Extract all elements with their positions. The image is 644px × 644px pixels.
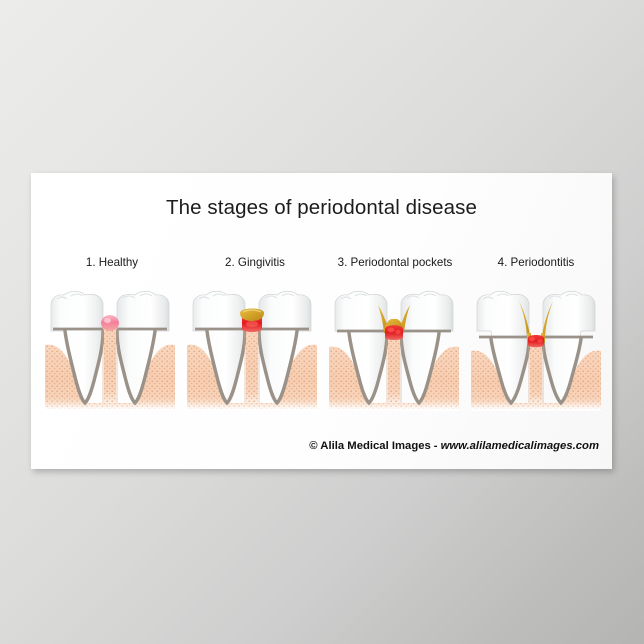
copyright-text: © Alila Medical Images: [309, 440, 431, 452]
credit-url: www.alilamedicalimages.com: [441, 440, 599, 452]
poster-scene: The stages of periodontal disease 1. Hea…: [0, 0, 644, 644]
credit-line: © Alila Medical Images-www.alilamedicali…: [309, 440, 599, 452]
stage-label-periodontal-pockets: 3. Periodontal pockets: [321, 256, 469, 269]
illustration-periodontal-pockets: [325, 285, 463, 417]
stage-label-gingivitis: 2. Gingivitis: [186, 256, 324, 269]
stage-label-healthy: 1. Healthy: [43, 256, 181, 269]
illustration-gingivitis: [183, 285, 321, 417]
stage-labels: 1. Healthy 2. Gingivitis 3. Periodontal …: [31, 256, 612, 274]
illustration-periodontitis: [467, 285, 605, 417]
stage-label-periodontitis: 4. Periodontitis: [467, 256, 605, 269]
page-title: The stages of periodontal disease: [31, 196, 612, 220]
illustration-healthy: [41, 285, 179, 417]
stage-illustrations: [31, 285, 612, 417]
gum-papilla: [101, 315, 119, 331]
credit-separator: -: [431, 440, 441, 452]
poster: The stages of periodontal disease 1. Hea…: [31, 173, 612, 469]
interdental-papilla-healthy: [101, 315, 119, 403]
